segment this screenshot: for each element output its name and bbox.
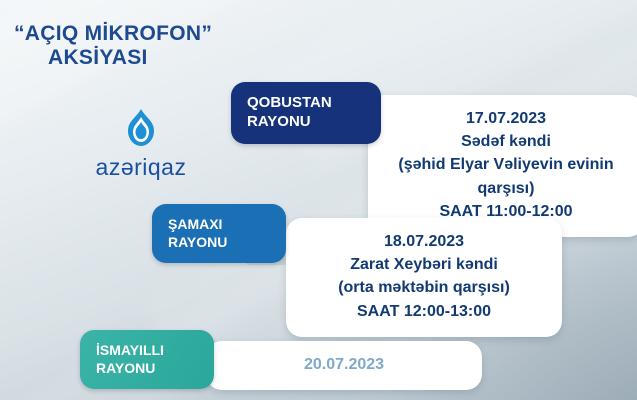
event-note: (orta məktəbin qarşısı) bbox=[296, 276, 552, 299]
title-line-1: “AÇIQ MİKROFON” bbox=[14, 22, 274, 46]
district-tag-shamaxi: ŞAMAXI RAYONU bbox=[152, 204, 286, 263]
district-tag-line-1: QOBUSTAN bbox=[247, 94, 367, 113]
event-card-2: 18.07.2023 Zarat Xeybəri kəndi (orta mək… bbox=[286, 218, 562, 337]
event-hours: SAAT 12:00-13:00 bbox=[296, 300, 552, 323]
event-date: 20.07.2023 bbox=[216, 353, 472, 376]
event-date: 18.07.2023 bbox=[296, 230, 552, 253]
district-tag-line-1: ŞAMAXI bbox=[168, 216, 272, 234]
poster-canvas: “AÇIQ MİKROFON” AKSİYASI azəriqaz QOBUST… bbox=[0, 0, 637, 400]
district-tag-line-2: RAYONU bbox=[247, 113, 367, 132]
event-card-1: 17.07.2023 Sədəf kəndi (şəhid Elyar Vəli… bbox=[368, 95, 637, 237]
event-place: Zarat Xeybəri kəndi bbox=[296, 253, 552, 276]
district-tag-line-1: İSMAYILLI bbox=[96, 342, 200, 360]
event-note: (şəhid Elyar Vəliyevin evinin bbox=[378, 153, 634, 176]
title-line-2: AKSİYASI bbox=[48, 46, 274, 70]
district-tag-line-2: RAYONU bbox=[168, 234, 272, 252]
brand-logo: azəriqaz bbox=[56, 108, 226, 181]
brand-name: azəriqaz bbox=[96, 154, 187, 180]
event-place: Sədəf kəndi bbox=[378, 130, 634, 153]
flame-icon bbox=[124, 108, 158, 148]
poster-title: “AÇIQ MİKROFON” AKSİYASI bbox=[14, 22, 274, 71]
district-tag-qobustan: QOBUSTAN RAYONU bbox=[231, 82, 381, 144]
event-card-3: 20.07.2023 bbox=[206, 341, 482, 390]
event-date: 17.07.2023 bbox=[378, 107, 634, 130]
district-tag-line-2: RAYONU bbox=[96, 360, 200, 378]
event-note-2: qarşısı) bbox=[378, 177, 634, 200]
district-tag-ismayilli: İSMAYILLI RAYONU bbox=[80, 330, 214, 389]
